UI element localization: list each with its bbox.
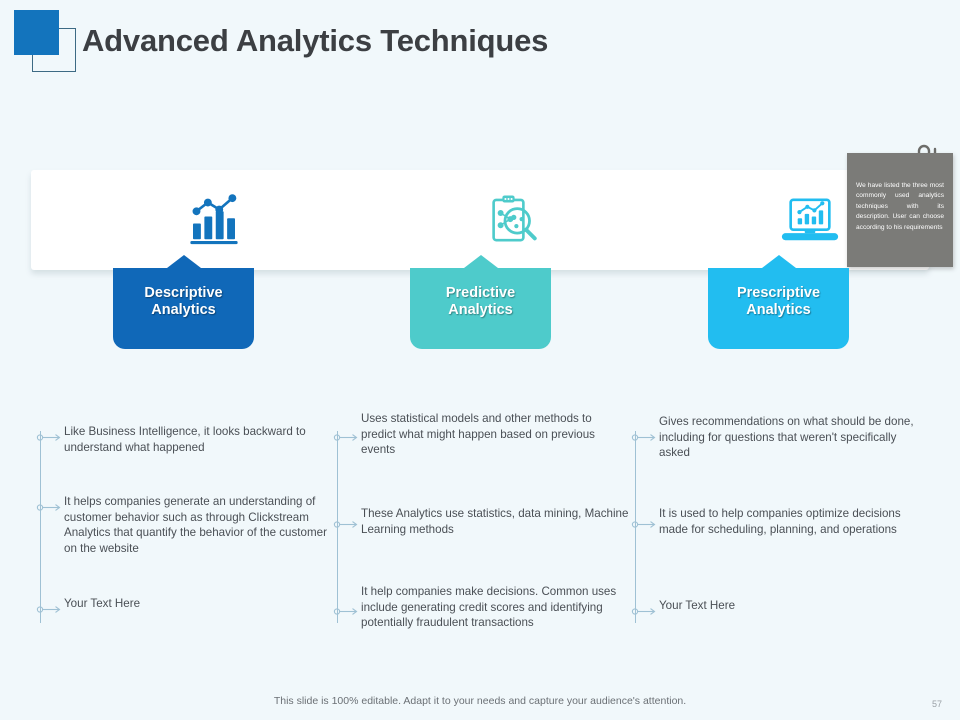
- card-label: Predictive Analytics: [446, 285, 515, 333]
- descriptive-analytics-points: Like Business Intelligence, it looks bac…: [36, 420, 336, 635]
- card-notch: [464, 255, 498, 268]
- arrow-marker-icon: [36, 500, 64, 511]
- square-logo-icon: [14, 10, 76, 72]
- arrow-marker-icon: [333, 517, 361, 528]
- prescriptive-analytics-points: Gives recommendations on what should be …: [631, 420, 931, 635]
- card-descriptive-analytics[interactable]: Descriptive Analytics: [113, 268, 254, 349]
- card-notch: [167, 255, 201, 268]
- list-item-text: It is used to help companies optimize de…: [659, 506, 927, 537]
- list-item-text: Your Text Here: [64, 596, 332, 612]
- arrow-marker-icon: [36, 602, 64, 613]
- list-item-text: These Analytics use statistics, data min…: [361, 506, 629, 537]
- list-item-text: Uses statistical models and other method…: [361, 411, 629, 458]
- list-item-text: Your Text Here: [659, 598, 927, 614]
- header: Advanced Analytics Techniques: [0, 0, 960, 92]
- laptop-analytics-icon: [773, 184, 847, 256]
- list-item-text: Gives recommendations on what should be …: [659, 414, 927, 461]
- predictive-analytics-points: Uses statistical models and other method…: [333, 420, 633, 635]
- page-number: 57: [932, 699, 942, 709]
- footer-note: This slide is 100% editable. Adapt it to…: [0, 695, 960, 707]
- sticky-note: We have listed the three most commonly u…: [847, 153, 953, 267]
- arrow-marker-icon: [631, 604, 659, 615]
- card-predictive-analytics[interactable]: Predictive Analytics: [410, 268, 551, 349]
- logo-filled-square: [14, 10, 59, 55]
- arrow-marker-icon: [631, 430, 659, 441]
- sticky-note-text: We have listed the three most commonly u…: [856, 181, 944, 233]
- arrow-marker-icon: [333, 430, 361, 441]
- list-item-text: It helps companies generate an understan…: [64, 494, 332, 556]
- list-item-text: Like Business Intelligence, it looks bac…: [64, 424, 332, 455]
- clipboard-network-magnifier-icon: [475, 184, 549, 256]
- page-title: Advanced Analytics Techniques: [82, 23, 548, 59]
- card-label: Descriptive Analytics: [144, 285, 222, 333]
- list-item-text: It help companies make decisions. Common…: [361, 584, 629, 631]
- arrow-marker-icon: [333, 604, 361, 615]
- arrow-marker-icon: [36, 430, 64, 441]
- card-label: Prescriptive Analytics: [737, 285, 820, 333]
- connector-line: [40, 431, 41, 623]
- arrow-marker-icon: [631, 517, 659, 528]
- bar-chart-trend-icon: [177, 184, 251, 256]
- card-prescriptive-analytics[interactable]: Prescriptive Analytics: [708, 268, 849, 349]
- card-notch: [762, 255, 796, 268]
